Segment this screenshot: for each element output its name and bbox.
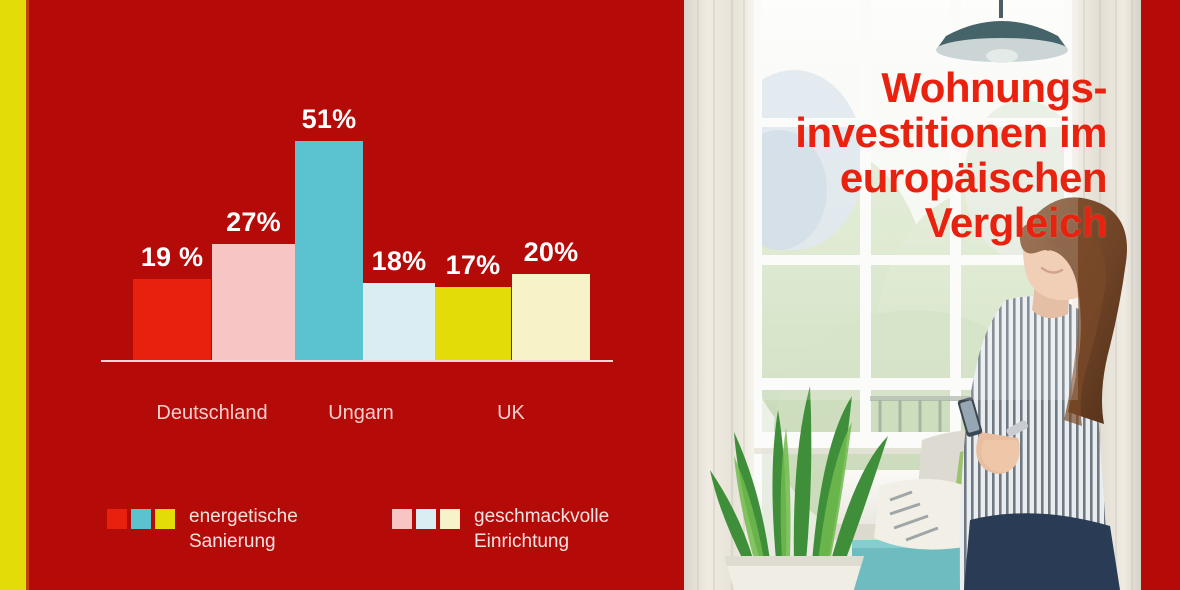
group-label-uk: UK [497,402,525,425]
accent-stripe-yellow [0,0,26,590]
bar-ungarn-renovation: 51% [295,141,363,360]
swatch-red [107,509,127,529]
red-panel: 19 %27%51%18%17%20% DeutschlandUngarnUK … [29,0,684,590]
swatch-light-blue [416,509,436,529]
bar-uk-furnishing: 20% [512,274,590,360]
swatch-teal [131,509,151,529]
legend-item-renovation: energetische Sanierung [107,505,298,554]
bar-value-label: 18% [372,246,427,277]
legend-label-furnishing: geschmackvolle Einrichtung [474,505,609,554]
bar-value-label: 27% [226,207,281,238]
swatch-cream [440,509,460,529]
swatch-yellow [155,509,175,529]
infographic-root: 19 %27%51%18%17%20% DeutschlandUngarnUK … [0,0,1180,590]
chart-plot: 19 %27%51%18%17%20% DeutschlandUngarnUK [89,120,629,380]
bar-deutschland-renovation: 19 % [133,279,211,360]
legend-swatches-renovation [107,509,175,529]
right-red-edge [1141,0,1180,590]
legend-item-furnishing: geschmackvolle Einrichtung [392,505,609,554]
bar-value-label: 17% [446,250,501,281]
bar-chart: 19 %27%51%18%17%20% DeutschlandUngarnUK [89,120,629,400]
bar-uk-renovation: 17% [435,287,511,360]
bar-deutschland-furnishing: 27% [212,244,295,360]
legend-label-renovation: energetische Sanierung [189,505,298,554]
group-label-deutschland: Deutschland [156,402,267,425]
bar-value-label: 19 % [141,242,203,273]
page-title: Wohnungs- investitionen im europäischen … [707,66,1107,246]
swatch-pink [392,509,412,529]
group-label-ungarn: Ungarn [328,402,394,425]
hero-photo: Wohnungs- investitionen im europäischen … [684,0,1141,590]
legend-swatches-furnishing [392,509,460,529]
bar-value-label: 51% [302,104,357,135]
bar-value-label: 20% [524,237,579,268]
bar-ungarn-furnishing: 18% [363,283,435,360]
chart-baseline-axis [101,360,613,362]
